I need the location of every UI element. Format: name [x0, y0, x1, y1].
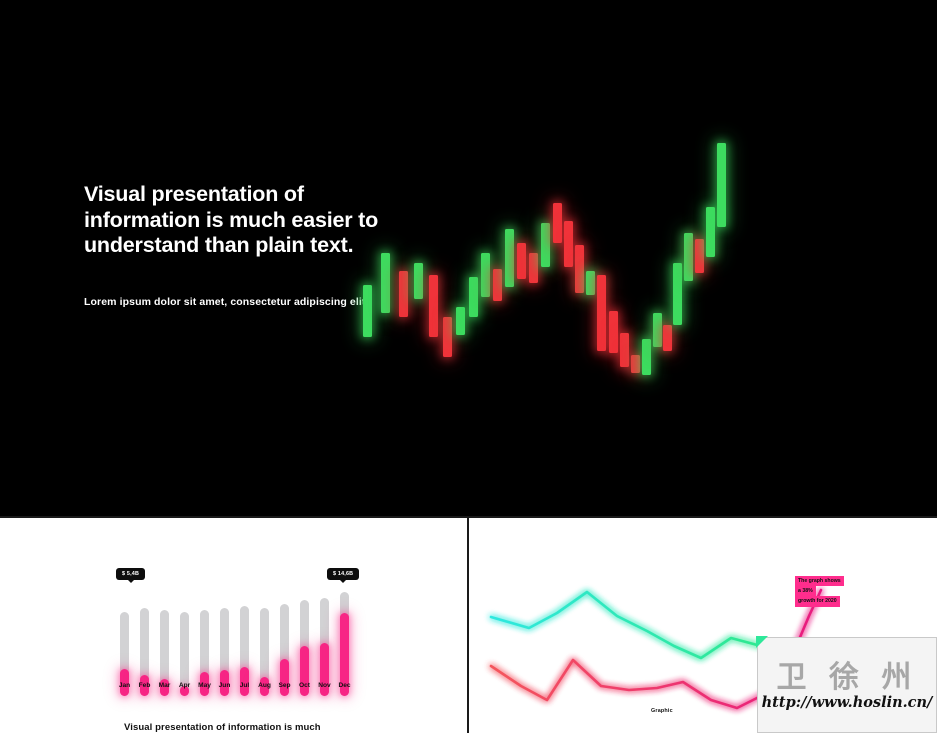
candle-29-up: [706, 207, 715, 257]
candle-22-down: [631, 355, 640, 373]
candle-28-down: [695, 239, 704, 273]
candle-13-down: [529, 253, 538, 283]
candle-8-up: [469, 277, 478, 317]
annotation-growth-1-line-2: a 38%: [795, 586, 816, 596]
month-label-mar: Mar: [156, 682, 174, 689]
month-label-aug: Aug: [256, 682, 274, 689]
annotation-growth-1-line-3: growth for 2020: [795, 596, 840, 606]
bar-fill: [280, 659, 289, 696]
month-label-jun: Jun: [216, 682, 234, 689]
candle-24-up: [653, 313, 662, 347]
candle-26-up: [673, 263, 682, 325]
candle-1-up: [363, 285, 372, 337]
candle-3-down: [399, 271, 408, 317]
candle-15-down: [553, 203, 562, 243]
candle-18-up: [586, 271, 595, 295]
candle-21-down: [620, 333, 629, 367]
hero-subtitle: Lorem ipsum dolor sit amet, consectetur …: [84, 259, 384, 309]
hero-copy: Visual presentation of information is mu…: [84, 182, 384, 309]
month-label-oct: Oct: [296, 682, 314, 689]
watermark-corner-icon: [756, 636, 768, 648]
candle-11-up: [505, 229, 514, 287]
month-label-apr: Apr: [176, 682, 194, 689]
bar-column-dec: [340, 592, 349, 696]
candle-2-up: [381, 253, 390, 313]
candle-14-up: [541, 223, 550, 267]
candle-10-down: [493, 269, 502, 301]
month-label-jul: Jul: [236, 682, 254, 689]
candle-4-up: [414, 263, 423, 299]
candle-19-down: [597, 275, 606, 351]
watermark-overlay: 卫 徐 州 http://www.hoslin.cn/: [757, 637, 937, 733]
annotation-growth-1: The graph shows a 38% growth for 2020: [795, 576, 844, 607]
slide-page: Visual presentation of information is mu…: [0, 0, 937, 733]
month-label-may: May: [196, 682, 214, 689]
candle-17-down: [575, 245, 584, 293]
candle-12-down: [517, 243, 526, 279]
month-label-jan: Jan: [116, 682, 134, 689]
candle-23-up: [642, 339, 651, 375]
hero-panel: Visual presentation of information is mu…: [0, 0, 937, 518]
annotation-growth-1-line-1: The graph shows: [795, 576, 844, 586]
candle-20-down: [609, 311, 618, 353]
bar-chart: [120, 586, 360, 696]
month-label-sep: Sep: [276, 682, 294, 689]
watermark-url[interactable]: http://www.hoslin.cn/: [758, 694, 936, 711]
page-title: Visual presentation of information is mu…: [84, 182, 384, 259]
month-label-nov: Nov: [316, 682, 334, 689]
candle-6-down: [443, 317, 452, 357]
line-chart-label: Graphic: [651, 708, 673, 714]
candle-27-up: [684, 233, 693, 281]
candlestick-chart: [355, 135, 755, 380]
bar-chart-panel: [0, 518, 467, 733]
candle-7-up: [456, 307, 465, 335]
bar-chart-caption: Visual presentation of information is mu…: [124, 722, 321, 733]
candle-30-up: [717, 143, 726, 227]
month-label-feb: Feb: [136, 682, 154, 689]
month-label-dec: Dec: [336, 682, 354, 689]
badge-high-value: $ 14,6B: [327, 568, 359, 580]
watermark-cjk-text: 卫 徐 州: [758, 652, 936, 696]
candle-5-down: [429, 275, 438, 337]
badge-low-value: $ 5,4B: [116, 568, 145, 580]
candle-25-down: [663, 325, 672, 351]
candle-9-up: [481, 253, 490, 297]
candle-16-down: [564, 221, 573, 267]
